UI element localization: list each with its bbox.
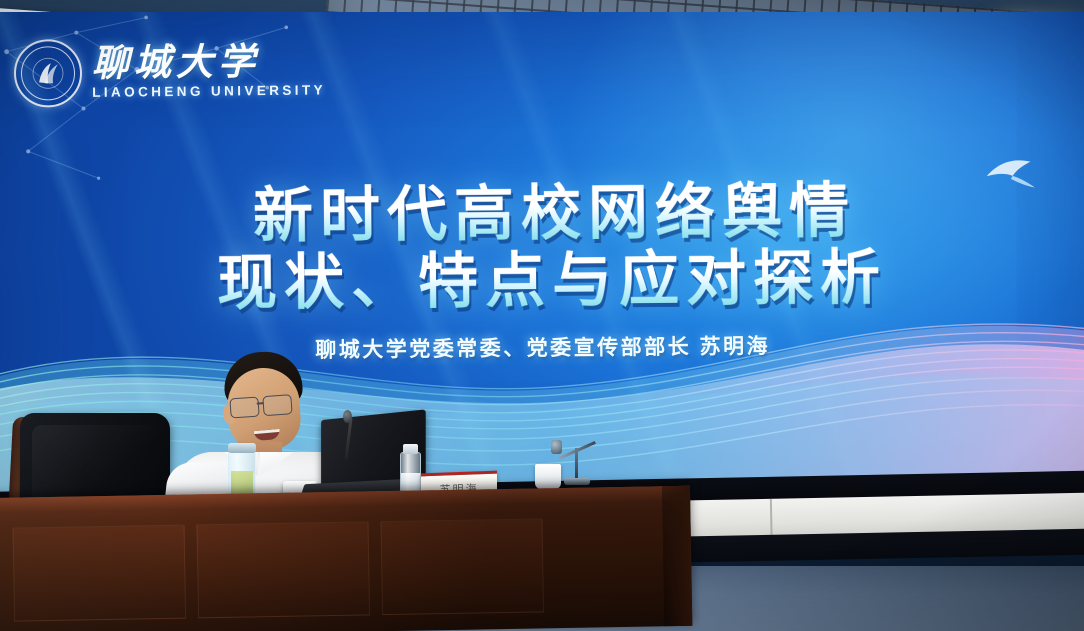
table-microphone-base: [564, 478, 590, 485]
second-paper-cup: [535, 464, 561, 489]
bottle-cap: [403, 444, 418, 454]
presentation-title-block: 新时代高校网络舆情 现状、特点与应对探析 聊城大学党委常委、党委宣传部部长 苏明…: [0, 175, 1084, 367]
university-seal-icon: [14, 39, 83, 108]
university-logo: 聊城大学 LIAOCHENG UNIVERSITY: [14, 30, 335, 113]
gooseneck-microphone-head: [343, 410, 352, 423]
table-microphone-stem: [575, 448, 578, 482]
logo-institution-en: LIAOCHENG UNIVERSITY: [92, 84, 326, 100]
lecture-hall-photo: 聊城大学 LIAOCHENG UNIVERSITY 新时代高校网络舆情 现状、特…: [0, 0, 1084, 631]
table-microphone-head: [551, 440, 562, 454]
title-line-2: 现状、特点与应对探析: [0, 242, 1084, 319]
thermos-cap: [228, 443, 256, 453]
podium-highlight: [0, 486, 692, 631]
logo-institution-cn: 聊城大学: [92, 44, 326, 83]
title-line-1: 新时代高校网络舆情: [0, 175, 1084, 252]
wooden-podium: [0, 486, 692, 631]
